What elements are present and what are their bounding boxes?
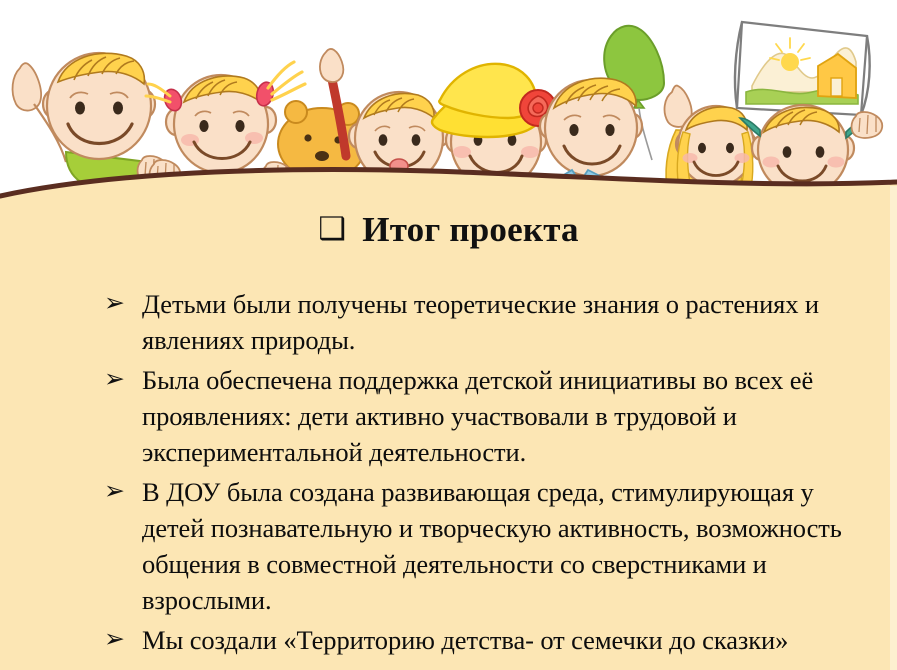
list-item-text: Детьми были получены теоретические знани… <box>142 286 856 358</box>
list-item-text: В ДОУ была создана развивающая среда, ст… <box>142 474 856 618</box>
slide-title: ❑Итог проекта <box>0 206 897 253</box>
list-item: ➢ Была обеспечена поддержка детской иниц… <box>104 362 856 470</box>
arrow-bullet-icon: ➢ <box>104 286 142 322</box>
bullet-list: ➢ Детьми были получены теоретические зна… <box>104 286 856 662</box>
list-item-text: Мы создали «Территорию детства- от семеч… <box>142 622 856 658</box>
slide-title-text: Итог проекта <box>362 210 578 249</box>
list-item: ➢ Детьми были получены теоретические зна… <box>104 286 856 358</box>
checkbox-square-icon: ❑ <box>318 206 346 252</box>
children-banner-illustration: .sk { fill:#FAE0C8; stroke:#C08A5E; stro… <box>0 0 897 200</box>
slide: .sk { fill:#FAE0C8; stroke:#C08A5E; stro… <box>0 0 897 670</box>
hand-7 <box>852 112 883 138</box>
arrow-bullet-icon: ➢ <box>104 362 142 398</box>
arrow-bullet-icon: ➢ <box>104 622 142 658</box>
list-item-text: Была обеспечена поддержка детской инициа… <box>142 362 856 470</box>
slide-right-edge <box>890 186 897 670</box>
arrow-bullet-icon: ➢ <box>104 474 142 510</box>
list-item: ➢ Мы создали «Территорию детства- от сем… <box>104 622 856 658</box>
list-item: ➢ В ДОУ была создана развивающая среда, … <box>104 474 856 618</box>
poster-drawing <box>735 22 870 115</box>
